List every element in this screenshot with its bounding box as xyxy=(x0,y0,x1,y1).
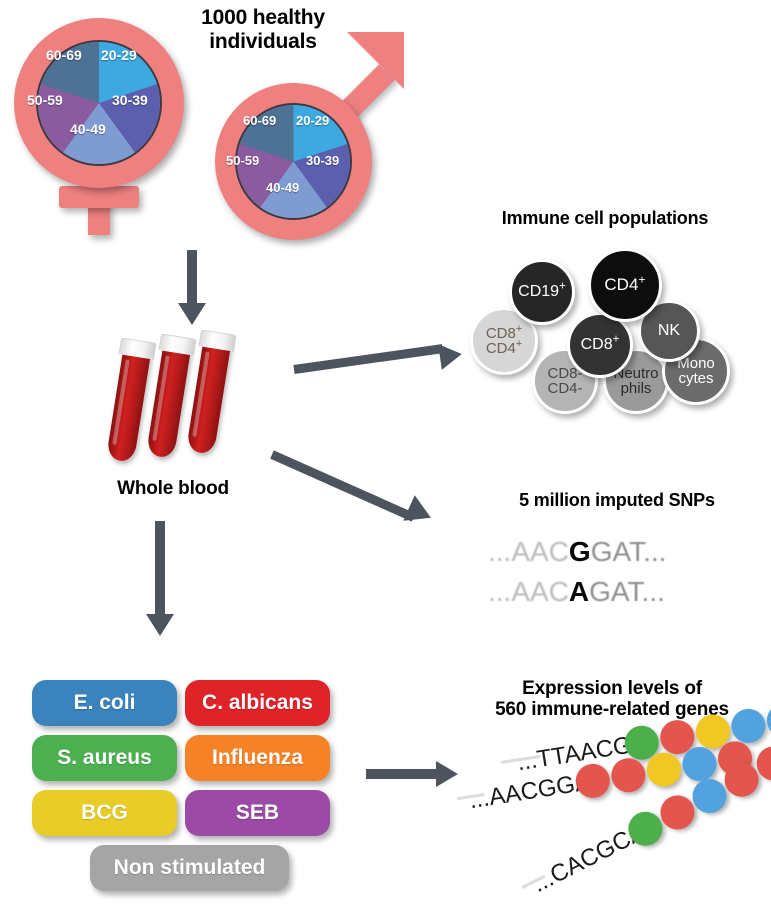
stimulus-bcg[interactable]: BCG xyxy=(32,790,177,836)
immune-cell-cd19-pos: CD19+ xyxy=(509,259,575,325)
arrow-shaft xyxy=(293,344,443,374)
blood-tube xyxy=(106,350,151,463)
expression-bead xyxy=(764,701,771,740)
cell-label-line: cytes xyxy=(678,371,713,386)
arrow-shaft xyxy=(270,450,415,521)
snp-suffix: GAT... xyxy=(591,536,667,567)
arrow-head xyxy=(403,495,436,530)
female-symbol-crossbar xyxy=(59,186,139,208)
pie-label-60-69: 60-69 xyxy=(46,47,82,63)
arrow-shaft xyxy=(187,250,197,307)
pie-label-30-39: 30-39 xyxy=(306,153,339,168)
snp-row: ...AACGGAT... xyxy=(488,536,666,568)
whole-blood-label: Whole blood xyxy=(88,478,258,499)
cell-label-line: CD19+ xyxy=(518,284,566,300)
cell-label-line: CD4+ xyxy=(604,276,645,293)
pie-label-40-49: 40-49 xyxy=(70,121,106,137)
expression-title-line-1: Expression levels of xyxy=(462,678,762,699)
immune-cell-cd4-pos: CD4+ xyxy=(588,248,662,322)
cell-label-line: CD8+ xyxy=(581,337,620,353)
snp-prefix: ...AAC xyxy=(488,576,569,607)
figure-canvas: 1000 healthy individuals 20-29 30-39 40-… xyxy=(0,0,771,922)
stimulus-c-albicans[interactable]: C. albicans xyxy=(185,680,330,726)
immune-section-title: Immune cell populations xyxy=(455,208,755,228)
pie-label-20-29: 20-29 xyxy=(296,113,329,128)
pie-label-60-69: 60-69 xyxy=(243,113,276,128)
stimulus-e-coli[interactable]: E. coli xyxy=(32,680,177,726)
pie-label-20-29: 20-29 xyxy=(101,47,137,63)
pie-label-40-49: 40-49 xyxy=(266,180,299,195)
stimulus-seb[interactable]: SEB xyxy=(185,790,330,836)
cell-label-line: phils xyxy=(621,381,652,396)
arrow-head xyxy=(438,341,463,370)
snp-variant-base: G xyxy=(569,536,591,567)
cohort-title: 1000 healthy individuals xyxy=(168,6,358,53)
arrow-shaft xyxy=(155,521,165,618)
snps-section-title: 5 million imputed SNPs xyxy=(472,490,762,510)
stimulus-s-aureus[interactable]: S. aureus xyxy=(32,735,177,781)
cohort-title-line-1: 1000 healthy xyxy=(168,6,358,30)
cohort-title-line-2: individuals xyxy=(168,30,358,54)
blood-tube xyxy=(186,342,231,455)
pie-label-50-59: 50-59 xyxy=(226,153,259,168)
arrow-head xyxy=(178,303,206,325)
snp-suffix: GAT... xyxy=(589,576,665,607)
arrow-head xyxy=(146,614,174,636)
snp-prefix: ...AAC xyxy=(488,536,569,567)
arrow-shaft xyxy=(366,769,438,779)
pie-label-50-59: 50-59 xyxy=(27,92,63,108)
blood-tube xyxy=(146,346,191,459)
cell-label-line: CD4+ xyxy=(486,341,522,356)
stimulus-influenza[interactable]: Influenza xyxy=(185,735,330,781)
stimulus-non-stimulated[interactable]: Non stimulated xyxy=(90,845,289,891)
pie-label-30-39: 30-39 xyxy=(112,92,148,108)
arrow-head xyxy=(436,761,458,787)
snp-variant-base: A xyxy=(569,576,589,607)
cell-label-line: CD4- xyxy=(547,381,582,396)
cell-label-line: NK xyxy=(658,323,680,339)
snp-row: ...AACAGAT... xyxy=(488,576,665,608)
